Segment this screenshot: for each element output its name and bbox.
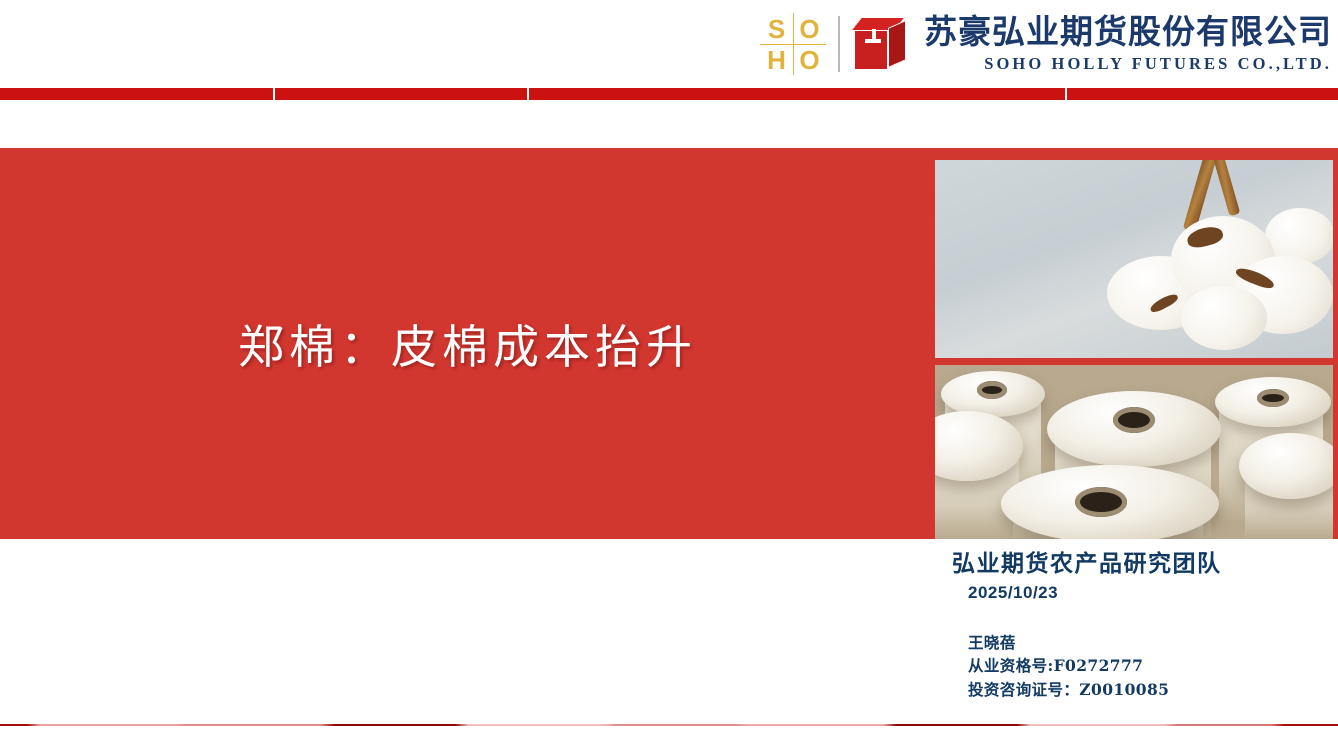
header-rule-segment-2 bbox=[275, 88, 528, 100]
practice-license-number: 从业资格号:F0272777 bbox=[968, 654, 1338, 678]
yarn-spool-top-5 bbox=[1239, 433, 1333, 499]
soho-letter-o2: O bbox=[793, 44, 826, 75]
header-rule-segment-1 bbox=[0, 88, 273, 100]
page-title: 郑棉：皮棉成本抬升 bbox=[0, 148, 935, 539]
bottom-accent-rule bbox=[0, 722, 1338, 728]
soho-letter-h: H bbox=[760, 44, 793, 75]
slide-header: S O H O 苏豪弘业期货股份有限公司 SOHO HOLLY FUTURES … bbox=[0, 0, 1338, 88]
company-name-en: SOHO HOLLY FUTURES CO.,LTD. bbox=[924, 54, 1332, 74]
yarn-spool-hole-6 bbox=[1075, 487, 1127, 517]
research-team-name: 弘业期货农产品研究团队 bbox=[952, 550, 1338, 579]
yarn-spools-photo bbox=[935, 365, 1333, 539]
header-rule-segment-3 bbox=[529, 88, 1065, 100]
yarn-spool-hole-1 bbox=[977, 381, 1007, 399]
brand-divider bbox=[838, 16, 840, 72]
header-accent-rule bbox=[0, 88, 1338, 100]
brand-lockup: S O H O 苏豪弘业期货股份有限公司 SOHO HOLLY FUTURES … bbox=[760, 4, 1332, 84]
cube-front-face bbox=[854, 30, 888, 70]
yarn-spool-hole-3 bbox=[1113, 407, 1155, 433]
company-name-cn: 苏豪弘业期货股份有限公司 bbox=[924, 14, 1332, 51]
bottom-rule-line bbox=[0, 724, 1338, 726]
analyst-credentials: 王晓蓓 从业资格号:F0272777 投资咨询证号：Z0010085 bbox=[968, 631, 1338, 702]
cotton-boll-4 bbox=[1181, 286, 1267, 350]
soho-mark-vertical-rule bbox=[793, 13, 794, 75]
cotton-boll-photo bbox=[935, 160, 1333, 358]
publication-date: 2025/10/23 bbox=[968, 583, 1338, 603]
analyst-name: 王晓蓓 bbox=[968, 631, 1338, 655]
soho-letter-o1: O bbox=[793, 13, 826, 44]
soho-square-mark-icon: S O H O bbox=[760, 13, 826, 75]
consulting-license-number: 投资咨询证号：Z0010085 bbox=[968, 678, 1338, 702]
cube-mark-vertical bbox=[872, 29, 876, 43]
red-cube-icon bbox=[852, 15, 910, 73]
cotton-stem-2 bbox=[1213, 160, 1241, 216]
footer-info-block: 弘业期货农产品研究团队 2025/10/23 王晓蓓 从业资格号:F027277… bbox=[952, 550, 1338, 701]
cube-side-face bbox=[888, 20, 906, 68]
header-rule-segment-4 bbox=[1067, 88, 1338, 100]
yarn-spool-hole-2 bbox=[1257, 389, 1289, 407]
brand-text: 苏豪弘业期货股份有限公司 SOHO HOLLY FUTURES CO.,LTD. bbox=[924, 14, 1332, 74]
soho-letter-s: S bbox=[760, 13, 793, 44]
